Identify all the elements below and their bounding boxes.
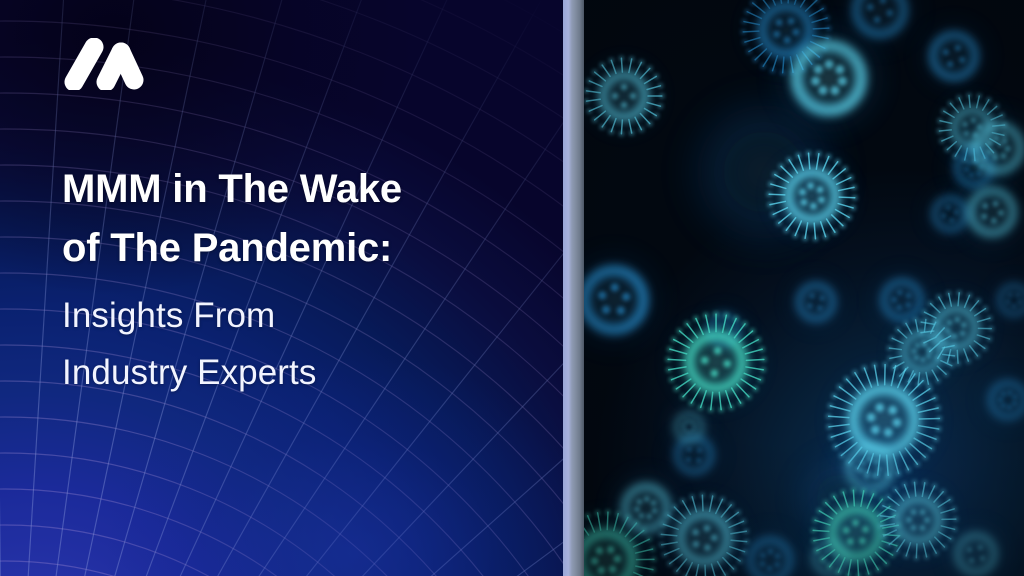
virus-particle (915, 287, 996, 368)
vertical-divider-strip (563, 0, 584, 576)
text-block: MMM in The Wake of The Pandemic: Insight… (62, 160, 542, 402)
virus-particle (781, 267, 851, 337)
subhead-line-2: Industry Experts (62, 345, 542, 402)
virus-particle (973, 365, 1024, 435)
virus-particle (584, 239, 675, 361)
headline-line-2: of The Pandemic: (62, 219, 542, 278)
headline-line-1: MMM in The Wake (62, 160, 542, 219)
virus-particle-field (584, 0, 1024, 576)
virus-particle (661, 307, 771, 417)
subhead-line-1: Insights From (62, 288, 542, 345)
left-content-panel: MMM in The Wake of The Pandemic: Insight… (0, 0, 566, 576)
coronavirus-image-panel (584, 0, 1024, 576)
virus-particle (911, 13, 998, 100)
virus-particle (584, 53, 668, 140)
m-monogram-logo[interactable] (61, 38, 147, 90)
hero-banner: MMM in The Wake of The Pandemic: Insight… (0, 0, 1024, 576)
virus-particle (763, 147, 862, 246)
